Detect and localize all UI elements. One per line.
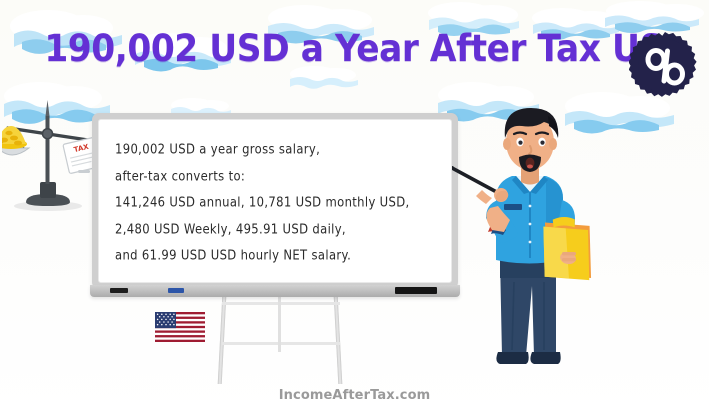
stand-center-post xyxy=(278,296,281,352)
page-title: 190,002 USD a Year After Tax US xyxy=(45,27,665,70)
title-bar: 190,002 USD a Year After Tax US xyxy=(0,18,709,78)
percent-badge-icon xyxy=(629,30,701,102)
whiteboard-frame: 190,002 USD a year gross salary, after-t… xyxy=(92,113,458,289)
whiteboard-surface: 190,002 USD a year gross salary, after-t… xyxy=(98,119,452,283)
site-name: IncomeAfterTax.com xyxy=(279,388,431,403)
balance-scale-icon: TAX xyxy=(2,100,106,218)
whiteboard: 190,002 USD a year gross salary, after-t… xyxy=(92,113,458,301)
eraser-icon xyxy=(395,287,437,294)
teacher-character xyxy=(452,100,648,368)
infographic-canvas: 190,002 USD a Year After Tax US xyxy=(0,0,709,419)
blue-marker-icon xyxy=(168,288,184,293)
stand-leg-left xyxy=(218,296,227,384)
whiteboard-stand xyxy=(212,296,348,384)
stand-crossbar-top xyxy=(222,302,340,305)
whiteboard-text-line: and 61.99 USD USD hourly NET salary. xyxy=(115,240,447,271)
stand-crossbar-mid xyxy=(222,342,340,345)
stand-leg-right xyxy=(334,296,343,384)
us-flag-icon xyxy=(155,312,205,342)
footer: IncomeAfterTax.com xyxy=(0,386,709,404)
black-marker-icon xyxy=(110,288,128,293)
whiteboard-marker-tray xyxy=(90,285,460,297)
